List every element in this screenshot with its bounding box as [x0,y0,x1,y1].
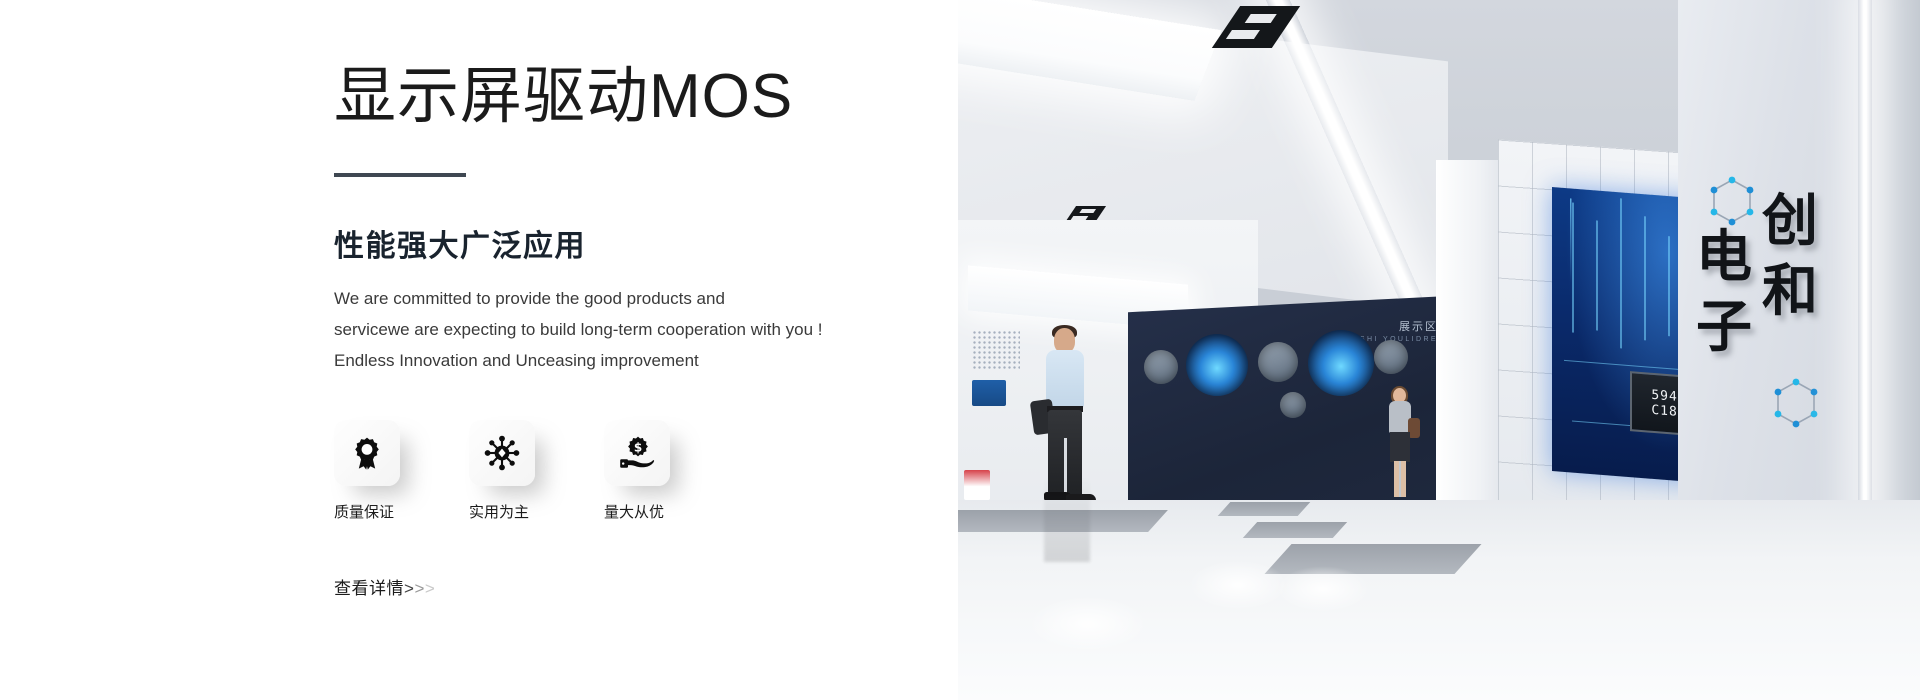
businesswoman [1384,388,1422,500]
exhibit-porthole-chip [1186,334,1248,396]
sign-char-zi: 子 [1696,298,1752,356]
wall-dot-graphic [972,330,1020,370]
floor-inlay-strip [1243,522,1347,538]
exhibit-porthole-chip [1308,330,1374,396]
svg-text:$: $ [634,441,642,455]
sign-char-chuang: 创 [1762,192,1818,250]
circuit-trace [1572,203,1574,333]
feature-list: 质量保证 [334,420,894,522]
left-text-panel: 显示屏驱动MOS 性能强大广泛应用 We are committed to pr… [0,0,958,700]
wall-blue-sign [972,380,1006,406]
floor-inlay-strip [1218,502,1311,516]
feature-label: 量大从优 [604,501,664,522]
hero-banner: 显示屏驱动MOS 性能强大广泛应用 We are committed to pr… [0,0,1920,700]
floor [958,500,1920,700]
circuit-trace [1644,216,1646,340]
wall-red-sign [964,470,990,500]
floor-light-reflection [1028,596,1148,652]
page-title: 显示屏驱动MOS [334,62,894,131]
molecule-hexagon-icon-top [1706,174,1758,237]
network-hub-icon [484,435,520,471]
banner-content: 显示屏驱动MOS 性能强大广泛应用 We are committed to pr… [334,62,894,599]
sign-char-he: 和 [1762,262,1818,320]
floor-light-reflection [1188,560,1288,610]
feature-item-quality[interactable]: 质量保证 [334,420,410,522]
view-details-label: 查看详情 [334,579,404,598]
avatar [1046,350,1084,408]
feature-item-bulk-discount[interactable]: $ 量大从优 [604,420,680,522]
feature-item-practical[interactable]: 实用为主 [469,420,545,522]
description-line-1: We are committed to provide the good pro… [334,283,894,314]
feature-icon-box [469,420,535,486]
view-details-link[interactable]: 查看详情>>> [334,574,435,599]
hand-money-icon: $ [619,435,655,471]
feature-icon-box: $ [604,420,670,486]
molecule-hexagon-icon-bottom [1770,376,1822,439]
circuit-trace [1596,220,1598,330]
exhibit-porthole [1374,340,1408,374]
exhibit-wall-title: 展示区 [1399,318,1438,334]
circuit-trace [1620,198,1622,348]
circuit-trace [1668,236,1670,336]
floor-light-reflection [1276,566,1370,612]
avatar [1390,432,1410,462]
title-divider [334,173,466,177]
exhibit-porthole [1280,392,1306,418]
banner-subtitle: 性能强大广泛应用 [334,221,894,265]
person-floor-reflection [1044,476,1090,562]
chevron-icon-1: > [404,579,414,598]
award-ribbon-icon [349,435,385,471]
description-line-2: servicewe are expecting to build long-te… [334,314,894,345]
avatar [1399,461,1401,497]
banner-description: We are committed to provide the good pro… [334,283,894,376]
feature-label: 实用为主 [469,501,529,522]
chevron-icon-2: > [414,579,424,598]
feature-icon-box [334,420,400,486]
showroom-interior-photo: 展示区 ZHANSHI YOULIDRE [958,0,1920,700]
exhibit-porthole [1258,342,1298,382]
description-line-3: Endless Innovation and Unceasing improve… [334,345,894,376]
feature-label: 质量保证 [334,501,394,522]
chevron-icon-3: > [425,579,435,598]
exhibit-porthole [1144,350,1178,384]
